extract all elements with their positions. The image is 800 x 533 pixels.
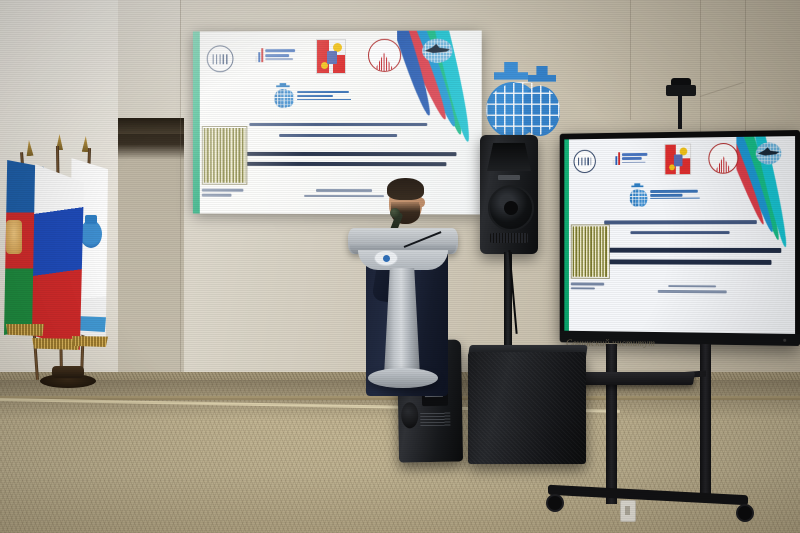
cart-post: [700, 344, 711, 494]
wall-alcove: [118, 118, 184, 380]
slide-event-line-2: [587, 231, 776, 234]
institution-flag-emblem-icon: [80, 220, 102, 248]
speaker-horn: [487, 143, 531, 171]
wall-outlet: [620, 500, 636, 522]
slide-title-line-1: [219, 152, 463, 157]
qr-code-caption: [202, 189, 244, 197]
southern-federal-university-logo: [708, 143, 738, 174]
flag-group: [4, 138, 108, 386]
speaker-vent: [490, 233, 528, 243]
podium-stem: [384, 268, 420, 376]
podium-front-face: [358, 250, 448, 270]
monitor-screen: [564, 136, 795, 334]
cart-caster: [546, 494, 564, 512]
wall-seam: [630, 0, 631, 120]
russian-federation-flag: [32, 164, 84, 350]
wall-seam: [745, 0, 746, 140]
flag-fringe: [72, 336, 108, 347]
monitor-power-led: [783, 339, 786, 342]
speaker-brand-badge: [498, 175, 520, 180]
cart-shelf: [569, 372, 695, 385]
nizhny-novgorod-university-logo: [613, 151, 648, 165]
nizhny-novgorod-university-logo: [255, 47, 295, 62]
pa-subwoofer: [468, 352, 586, 464]
speaker-bass-port: [401, 402, 418, 428]
camera-stalk: [678, 95, 682, 129]
rudn-globe-wall-decor: [486, 62, 560, 146]
rudn-university-logo-text: [297, 90, 351, 101]
coat-of-arms-logo: [664, 144, 691, 176]
slide-content-monitor: [564, 136, 795, 334]
globe-bird-logo: [756, 142, 781, 164]
qr-code-caption: [571, 282, 604, 289]
qr-code: [202, 126, 248, 185]
coat-of-arms-logo: [316, 39, 346, 74]
mobile-tv-cart[interactable]: [560, 344, 740, 520]
southern-federal-university-logo: [368, 39, 401, 72]
presenter-ear: [419, 198, 425, 207]
slide-event-line-1: [223, 123, 455, 126]
qr-code: [571, 224, 610, 278]
podium-base: [368, 368, 438, 388]
presenter-hair: [387, 178, 424, 200]
slide-event-line-1: [587, 220, 776, 224]
globe-grid-icon: [486, 82, 560, 138]
slide-title-line-2: [219, 162, 463, 167]
flag-stand-base: [40, 374, 96, 388]
flag-fringe: [6, 324, 44, 336]
slide-title-line-1: [581, 248, 785, 253]
speaker-woofer: [488, 185, 534, 231]
slide-title-line-2: [581, 259, 785, 264]
flagpole-finial: [25, 140, 33, 156]
pa-speaker-on-stand: [480, 135, 538, 254]
wall-monitor-display: [560, 130, 800, 346]
video-camera: [664, 78, 698, 96]
speaker-podium: [348, 228, 458, 390]
circular-seal-logo: [574, 150, 596, 174]
wall-alcove-shadow: [118, 118, 184, 134]
cart-base: [548, 485, 748, 505]
left-wall-panel-upper: [118, 0, 180, 120]
slide-event-line-2: [223, 134, 455, 137]
wall-seam: [180, 0, 181, 380]
rudn-university-logo: [272, 83, 351, 109]
slide-footer: [643, 285, 743, 293]
globe-bird-logo: [422, 39, 452, 63]
cart-post: [606, 344, 617, 504]
conference-hall-photo: Сочинский институт: [0, 0, 800, 533]
rudn-university-logo: [628, 183, 700, 208]
flag-coat-of-arms: [6, 220, 22, 254]
circular-seal-logo: [207, 45, 234, 72]
microphone-head-icon: [390, 208, 400, 218]
speaker-label: [420, 412, 450, 427]
cart-caster: [736, 504, 754, 522]
podium-emblem-icon: [374, 250, 398, 266]
